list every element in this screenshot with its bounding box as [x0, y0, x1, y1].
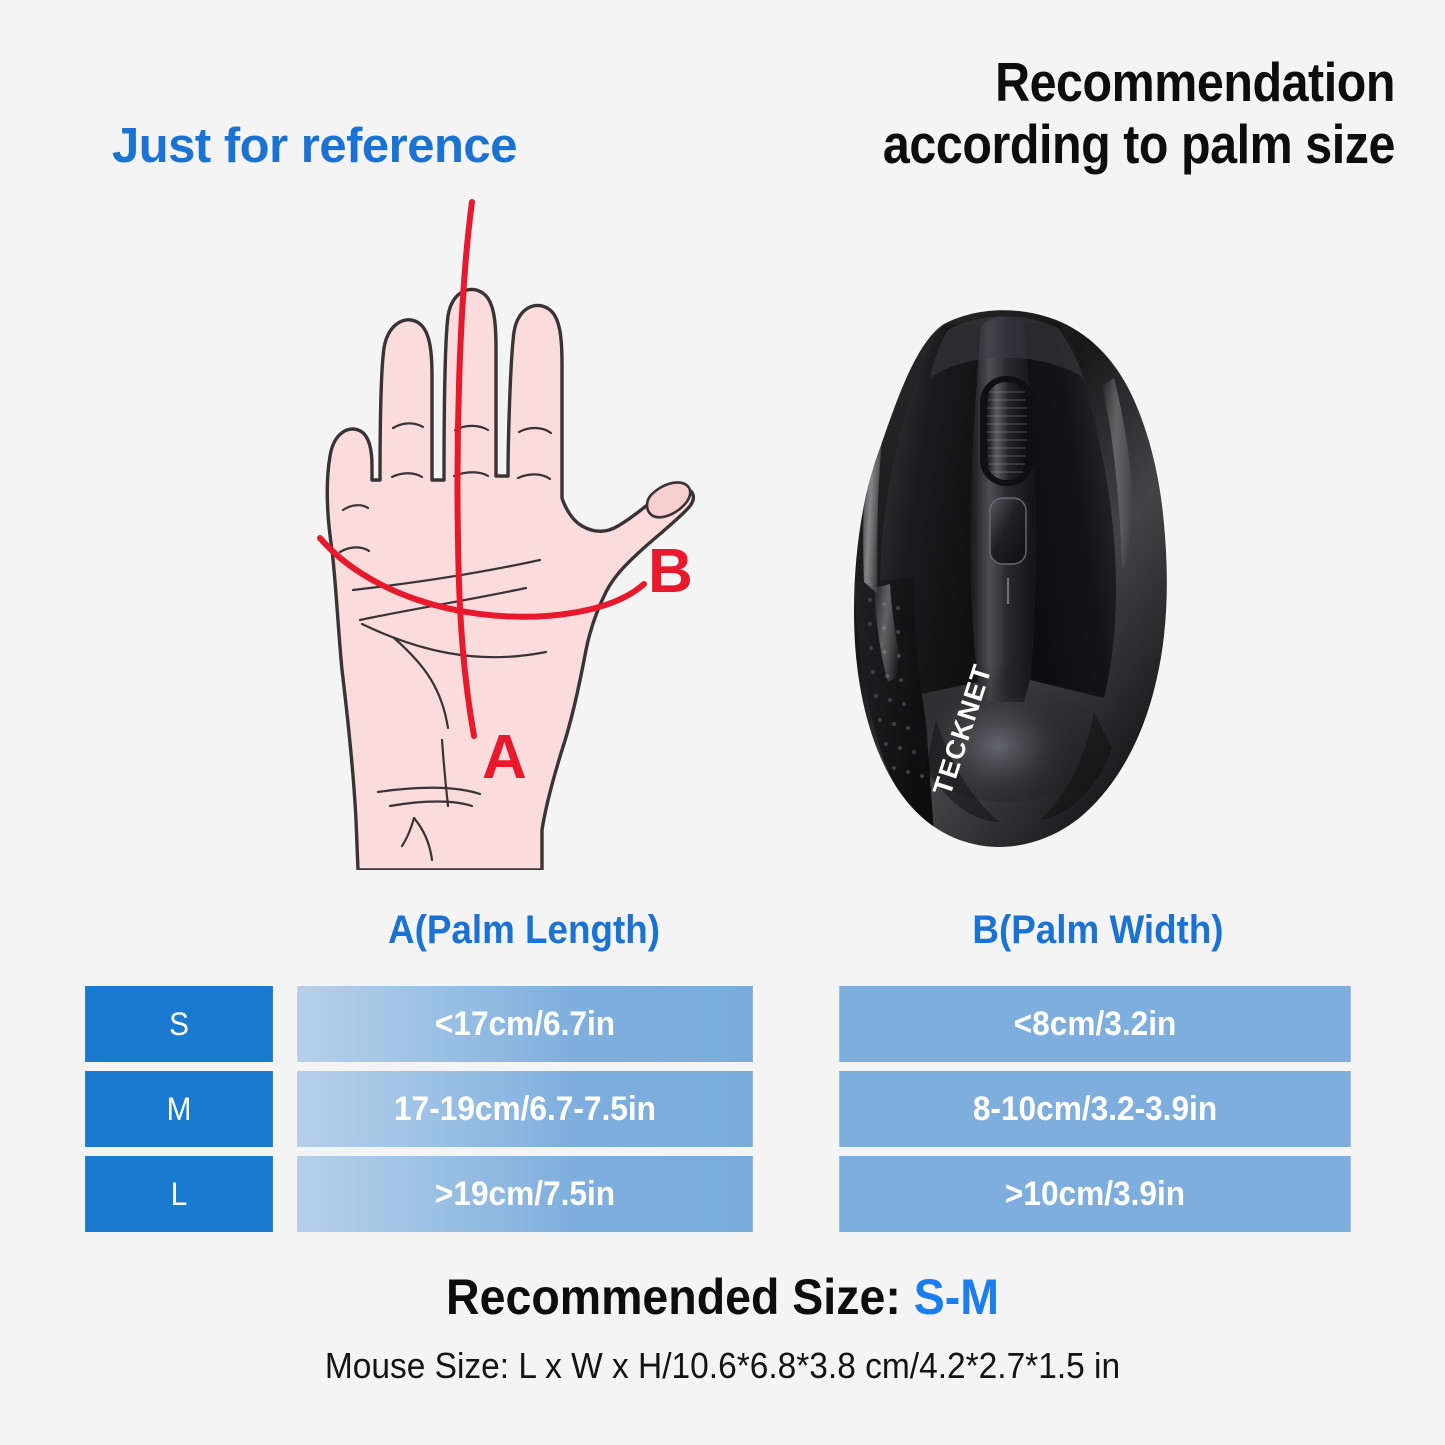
table-row: S <17cm/6.7in <8cm/3.2in	[78, 986, 1370, 1062]
column-gap	[770, 1071, 820, 1147]
table-column-headers: A(Palm Length) B(Palm Width)	[78, 908, 1370, 960]
row-palm-length-value: <17cm/6.7in	[297, 986, 753, 1062]
recommended-size-label: Recommended Size:	[446, 1269, 914, 1325]
column-gap	[770, 1156, 820, 1232]
recommended-size-line: Recommended Size: S-M	[51, 1268, 1395, 1326]
label-a: A	[482, 723, 527, 792]
row-size-label: S	[85, 986, 273, 1062]
reference-title: Just for reference	[112, 118, 517, 174]
hand-diagram: A B	[296, 180, 726, 870]
row-size-label: L	[85, 1156, 273, 1232]
row-size-label: M	[85, 1071, 273, 1147]
row-palm-width-value: <8cm/3.2in	[839, 986, 1351, 1062]
mouse-product-image: TECKNET	[818, 282, 1218, 862]
column-header-palm-width: B(Palm Width)	[822, 908, 1374, 953]
page-title: Recommendation according to palm size	[709, 52, 1395, 175]
recommended-size-value: S-M	[914, 1269, 999, 1325]
mouse-dimensions-line: Mouse Size: L x W x H/10.6*6.8*3.8 cm/4.…	[51, 1345, 1395, 1387]
column-header-palm-length: A(Palm Length)	[294, 908, 754, 953]
page-title-line2: according to palm size	[709, 114, 1395, 176]
table-row: L >19cm/7.5in >10cm/3.9in	[78, 1156, 1370, 1232]
row-palm-width-value: >10cm/3.9in	[839, 1156, 1351, 1232]
mouse-side-button-forward	[851, 430, 866, 470]
row-palm-width-value: 8-10cm/3.2-3.9in	[839, 1071, 1351, 1147]
column-gap	[770, 986, 820, 1062]
table-row: M 17-19cm/6.7-7.5in 8-10cm/3.2-3.9in	[78, 1071, 1370, 1147]
label-b: B	[648, 537, 693, 606]
infographic-root: Just for reference Recommendation accord…	[0, 0, 1445, 1445]
page-title-line1: Recommendation	[995, 51, 1395, 113]
dpi-button	[990, 498, 1026, 564]
row-palm-length-value: 17-19cm/6.7-7.5in	[297, 1071, 753, 1147]
scroll-wheel	[986, 382, 1028, 480]
size-chart-table: S <17cm/6.7in <8cm/3.2in M 17-19cm/6.7-7…	[78, 986, 1370, 1241]
row-palm-length-value: >19cm/7.5in	[297, 1156, 753, 1232]
